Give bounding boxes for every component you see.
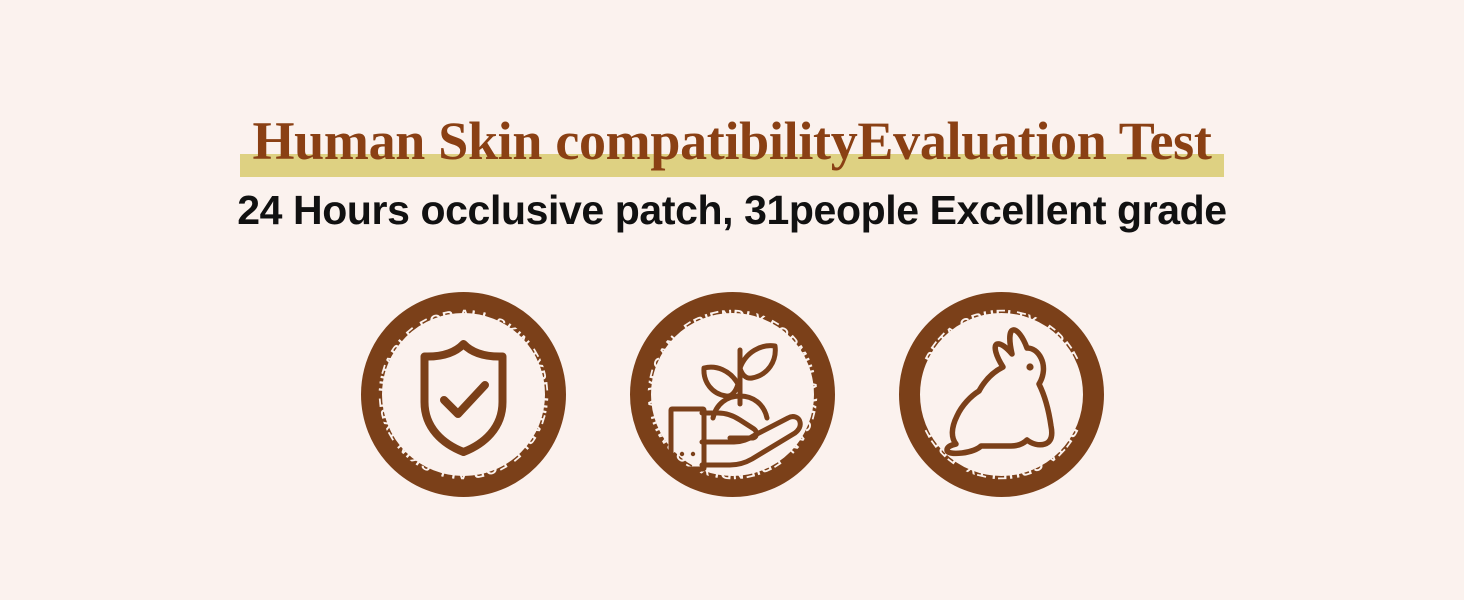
badge-vegan-friendly-formula: · VEGAN ·FRIENDLY FORMULA · · VEGAN ·FRI…: [630, 292, 835, 497]
badge-ring: [909, 303, 1093, 487]
page-subtitle: 24 Hours occlusive patch, 31people Excel…: [0, 186, 1464, 234]
rabbit-icon: [947, 330, 1052, 453]
certification-badge-row: · SUITABLE FOR ALL SKIN TYPES · · SUITAB…: [0, 292, 1464, 502]
product-claims-banner: Human Skin compatibilityEvaluation Test …: [0, 0, 1464, 600]
badge-ring: [371, 303, 555, 487]
badge-peta-cruelty-free: · PETA CRUELTY ·FREE · · PETA CRUELTY ·F…: [899, 292, 1104, 497]
page-title: Human Skin compatibilityEvaluation Test: [252, 108, 1211, 174]
title-block: Human Skin compatibilityEvaluation Test: [0, 104, 1464, 178]
badge-suitable-for-all-skin-types: · SUITABLE FOR ALL SKIN TYPES · · SUITAB…: [361, 292, 566, 497]
shield-check-icon: [424, 344, 502, 452]
